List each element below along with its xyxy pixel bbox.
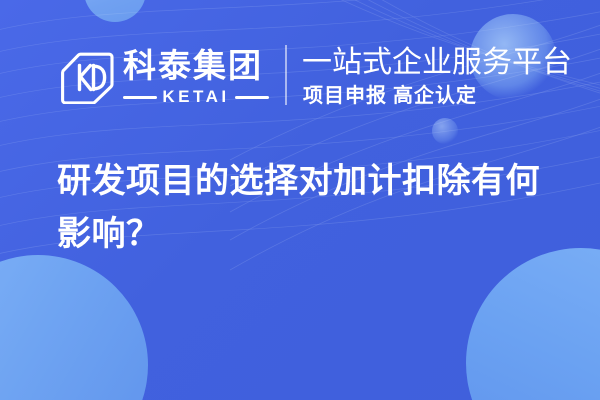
tagline-secondary: 项目申报 高企认定 <box>303 84 477 108</box>
decorative-circle-bottom-left <box>0 255 148 400</box>
header-divider <box>285 45 287 105</box>
brand-name-en-row: KETAI <box>123 88 269 106</box>
brand-name-en: KETAI <box>162 88 229 106</box>
promo-banner: 科泰集团 KETAI 一站式企业服务平台 项目申报 高企认定 研发项目的选择对加… <box>0 0 600 400</box>
brand-name-cn: 科泰集团 <box>123 46 263 86</box>
ketai-logo-icon <box>60 50 114 104</box>
brand-rule-right <box>235 96 269 99</box>
decorative-circle-bottom-right <box>466 248 600 400</box>
banner-headline: 研发项目的选择对加计扣除有何影响？ <box>57 155 557 261</box>
brand-rule-left <box>123 96 157 99</box>
banner-header: 科泰集团 KETAI 一站式企业服务平台 项目申报 高企认定 <box>0 0 600 150</box>
tagline-primary: 一站式企业服务平台 <box>302 46 572 80</box>
